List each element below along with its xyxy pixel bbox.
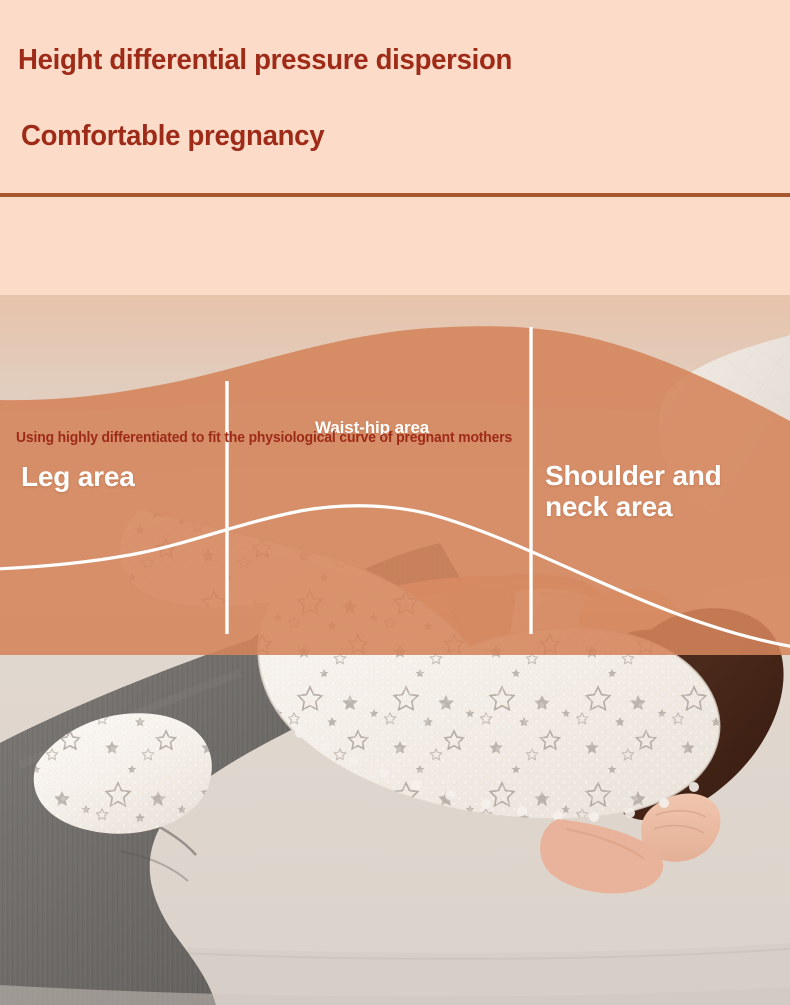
banner-header: Height differential pressure dispersion … bbox=[0, 0, 790, 193]
headline-secondary: Comfortable pregnancy bbox=[21, 120, 324, 153]
headline-primary: Height differential pressure dispersion bbox=[18, 44, 512, 77]
zone-label-shoulder-neck: Shoulder and neck area bbox=[545, 460, 722, 523]
product-banner: Leg area Waist-hip area Shoulder and nec… bbox=[0, 0, 790, 1005]
subtitle-band: Using highly differentiated to fit the p… bbox=[0, 197, 790, 295]
zone-label-leg: Leg area bbox=[21, 461, 135, 492]
subtitle-text: Using highly differentiated to fit the p… bbox=[16, 430, 512, 446]
photo-illustration bbox=[0, 295, 790, 1005]
product-photo bbox=[0, 295, 790, 1005]
